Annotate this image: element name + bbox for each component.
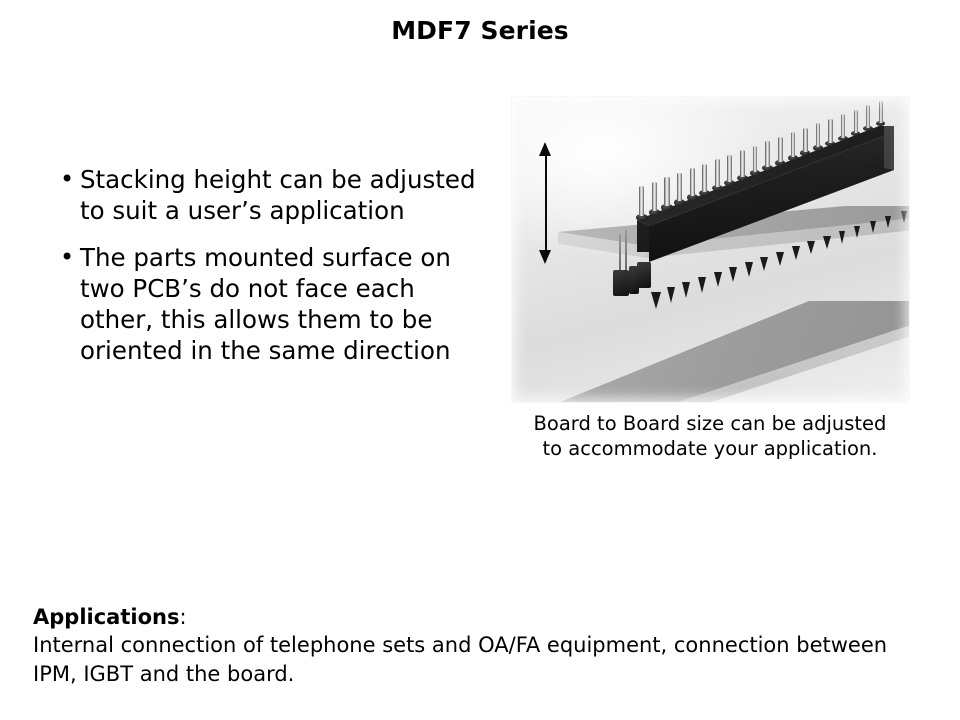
board-to-board-connector (629, 112, 894, 252)
receptacle-block (603, 256, 657, 296)
connector-pin-tail (901, 211, 907, 223)
connector-pin (866, 105, 870, 127)
list-item: • Stacking height can be adjusted to sui… (50, 164, 490, 226)
list-item: • The parts mounted surface on two PCB’s… (50, 242, 490, 366)
connector-pin-tail (776, 252, 784, 266)
connector-pin-tail (745, 262, 753, 277)
stacking-height-arrow-icon (535, 142, 557, 264)
bullet-marker-icon: • (50, 242, 80, 273)
applications-body-text: Internal connection of telephone sets an… (33, 631, 933, 689)
connector-pin (841, 114, 845, 137)
applications-heading-label: Applications (33, 605, 179, 629)
connector-pin-tail (760, 257, 768, 271)
connector-pin (740, 150, 745, 177)
photo-caption: Board to Board size can be adjusted to a… (495, 411, 925, 461)
connector-pin (715, 159, 720, 186)
applications-heading-colon: : (179, 605, 186, 629)
connector-pin (664, 177, 669, 206)
bullet-marker-icon: • (50, 164, 80, 195)
bullet-list: • Stacking height can be adjusted to sui… (50, 164, 490, 382)
connector-pin (828, 119, 832, 143)
connector-pin (816, 123, 820, 147)
arrow-head-down-icon (539, 250, 551, 264)
product-photo (511, 96, 910, 403)
applications-heading: Applications: (33, 604, 933, 631)
connector-pin-tail (667, 287, 675, 303)
connector-pin (765, 141, 770, 167)
connector-pin (652, 182, 657, 212)
connector-pin-tail (698, 277, 706, 293)
connector-pin (702, 164, 707, 192)
connector-pin (879, 101, 883, 123)
connector-pin (727, 155, 732, 182)
connector-pin (753, 146, 758, 172)
connector-pin (791, 132, 796, 157)
connector-pin-tail (714, 272, 722, 287)
connector-pin (803, 128, 807, 153)
connector-pin-tail (682, 282, 690, 298)
connector-pin (639, 186, 644, 216)
connector-pin (677, 173, 682, 202)
connector-pin (778, 137, 783, 162)
connector-pin-tail (729, 267, 737, 282)
arrow-shaft (545, 149, 547, 257)
page-title: MDF7 Series (0, 16, 960, 45)
bullet-text: Stacking height can be adjusted to suit … (80, 164, 490, 226)
applications-section: Applications: Internal connection of tel… (33, 604, 933, 689)
connector-pin (690, 168, 695, 196)
bullet-text: The parts mounted surface on two PCB’s d… (80, 242, 490, 366)
connector-pin (854, 110, 858, 133)
